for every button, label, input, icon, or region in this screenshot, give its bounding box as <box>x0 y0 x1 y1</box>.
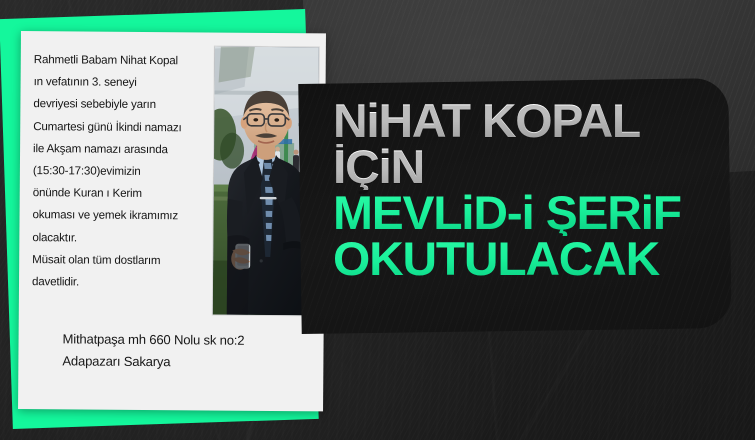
headline-line-2: İÇiN <box>333 144 755 190</box>
announcement-address-text: Mithatpaşa mh 660 Nolu sk no:2 Adapazarı… <box>62 328 244 372</box>
news-graphic-canvas: Rahmetli Babam Nihat Kopal ın vefatının … <box>0 0 755 440</box>
headline-block: NiHAT KOPAL İÇiN MEVLiD-i ŞERiF OKUTULAC… <box>333 98 755 282</box>
headline-line-1: NiHAT KOPAL <box>333 98 755 144</box>
headline-line-4: OKUTULACAK <box>333 236 755 282</box>
headline-line-3: MEVLiD-i ŞERiF <box>333 190 755 236</box>
announcement-card: Rahmetli Babam Nihat Kopal ın vefatının … <box>18 31 326 411</box>
announcement-body-text: Rahmetli Babam Nihat Kopal ın vefatının … <box>32 49 228 295</box>
